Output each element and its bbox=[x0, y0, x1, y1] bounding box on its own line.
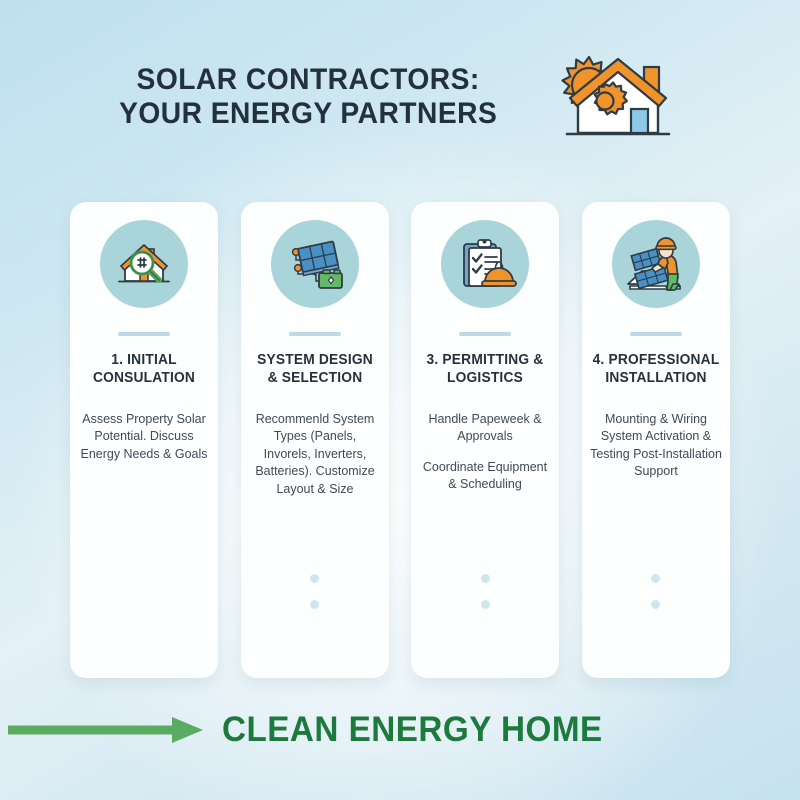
steps-card-row: 1. INITIAL CONSULATION Assess Property S… bbox=[70, 202, 730, 678]
step-card-4[interactable]: 4. PROFESSIONAL INSTALLATION Mounting & … bbox=[582, 202, 730, 678]
step-card-3[interactable]: 3. PERMITTING & LOGISTICS Handle Papewee… bbox=[411, 202, 559, 678]
footer-label: CLEAN ENERGY HOME bbox=[222, 710, 603, 750]
card-paragraph: Mounting & Wiring System Activation & Te… bbox=[590, 410, 722, 480]
card-divider bbox=[630, 332, 682, 336]
card-title: 4. PROFESSIONAL INSTALLATION bbox=[586, 352, 727, 388]
dot bbox=[651, 600, 660, 609]
card-divider bbox=[459, 332, 511, 336]
card-paragraph: Assess Property Solar Potential. Discuss… bbox=[78, 410, 210, 462]
dot bbox=[481, 600, 490, 609]
house-magnifying-glass-icon bbox=[100, 220, 188, 308]
infographic-poster: SOLAR CONTRACTORS: YOUR ENERGY PARTNERS bbox=[0, 0, 800, 800]
card-divider bbox=[289, 332, 341, 336]
card-body: Mounting & Wiring System Activation & Te… bbox=[585, 410, 727, 480]
card-title: 1. INITIAL CONSULATION bbox=[74, 352, 215, 388]
card-title: 3. PERMITTING & LOGISTICS bbox=[415, 352, 556, 388]
solar-panel-battery-icon bbox=[271, 220, 359, 308]
step-card-1[interactable]: 1. INITIAL CONSULATION Assess Property S… bbox=[70, 202, 218, 678]
card-dots bbox=[582, 574, 730, 609]
clipboard-hardhat-icon bbox=[441, 220, 529, 308]
step-card-2[interactable]: SYSTEM DESIGN & SELECTION Recommenld Sys… bbox=[241, 202, 389, 678]
title-line-1: SOLAR CONTRACTORS: bbox=[119, 63, 497, 97]
card-body: Assess Property Solar Potential. Discuss… bbox=[73, 410, 215, 462]
card-body: Recommenld System Types (Panels, Invorel… bbox=[244, 410, 386, 497]
card-paragraph: Recommenld System Types (Panels, Invorel… bbox=[248, 410, 380, 497]
dot bbox=[310, 600, 319, 609]
title-line-2: YOUR ENERGY PARTNERS bbox=[119, 97, 497, 131]
card-dots bbox=[411, 574, 559, 609]
dot bbox=[481, 574, 490, 583]
dot bbox=[651, 574, 660, 583]
page-title: SOLAR CONTRACTORS: YOUR ENERGY PARTNERS bbox=[107, 63, 509, 131]
card-paragraph: Coordinate Equipment & Scheduling bbox=[419, 458, 551, 493]
card-paragraph: Handle Papeweek & Approvals bbox=[419, 410, 551, 445]
dot bbox=[310, 574, 319, 583]
card-body: Handle Papeweek & Approvals Coordinate E… bbox=[414, 410, 556, 493]
card-divider bbox=[118, 332, 170, 336]
card-title: SYSTEM DESIGN & SELECTION bbox=[244, 352, 385, 388]
house-with-sun-and-gear-icon bbox=[543, 45, 693, 149]
green-right-arrow-icon bbox=[8, 713, 208, 747]
installer-worker-icon bbox=[612, 220, 700, 308]
header: SOLAR CONTRACTORS: YOUR ENERGY PARTNERS bbox=[0, 42, 800, 152]
footer: CLEAN ENERGY HOME bbox=[0, 700, 800, 760]
card-dots bbox=[241, 574, 389, 609]
